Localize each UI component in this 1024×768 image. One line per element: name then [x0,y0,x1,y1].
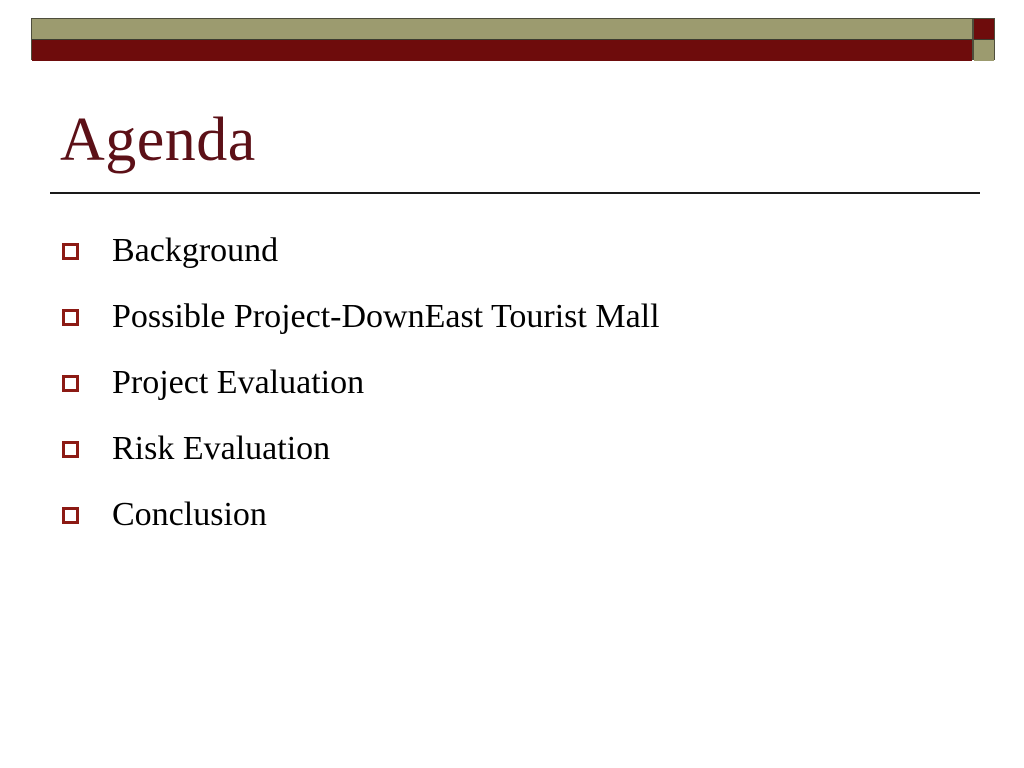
presentation-slide: Agenda Background Possible Project-DownE… [0,0,1024,768]
header-bar-cap-maroon-band [974,19,994,40]
list-item: Possible Project-DownEast Tourist Mall [62,284,992,350]
square-bullet-icon [62,441,79,458]
square-bullet-icon [62,243,79,260]
header-decoration-bar [31,18,995,60]
header-bar-khaki-band [32,19,972,40]
header-bar-end-cap [973,18,995,60]
list-item-label: Conclusion [112,495,992,535]
list-item-label: Background [112,231,992,271]
header-bar-cap-khaki-band [974,40,994,61]
list-item: Background [62,218,992,284]
list-item-label: Project Evaluation [112,363,992,403]
list-item: Project Evaluation [62,350,992,416]
square-bullet-icon [62,375,79,392]
header-bar-maroon-band [32,40,972,61]
list-item-label: Possible Project-DownEast Tourist Mall [112,297,992,337]
slide-title: Agenda [60,104,256,176]
list-item-label: Risk Evaluation [112,429,992,469]
title-underline-rule [50,192,980,194]
list-item: Risk Evaluation [62,416,992,482]
square-bullet-icon [62,507,79,524]
agenda-bullet-list: Background Possible Project-DownEast Tou… [62,218,992,548]
header-bar-main [31,18,973,60]
square-bullet-icon [62,309,79,326]
list-item: Conclusion [62,482,992,548]
